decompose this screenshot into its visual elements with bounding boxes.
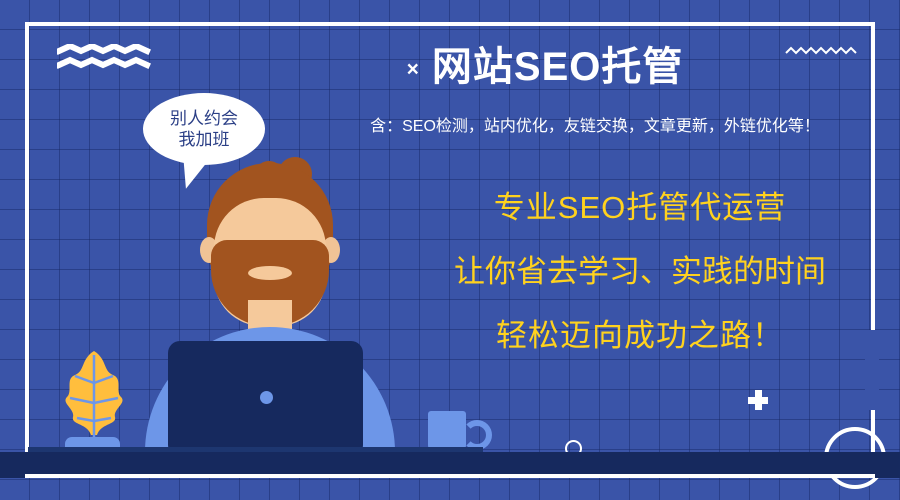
speech-bubble-line-1: 别人约会	[170, 108, 238, 129]
speech-bubble-text: 别人约会 我加班	[170, 108, 238, 151]
mug-handle	[462, 420, 492, 450]
laptop-logo-dot	[260, 391, 273, 404]
desk-edge-line	[25, 474, 875, 478]
plant-leaf-icon	[55, 349, 133, 449]
coffee-mug-icon	[428, 411, 466, 452]
mouth	[248, 266, 292, 280]
seo-promo-banner: ×网站SEO托管 含：SEO检测，站内优化，友链交换，文章更新，外链优化等！ 专…	[0, 0, 900, 500]
speech-bubble-line-2: 我加班	[170, 129, 238, 150]
speech-bubble: 别人约会 我加班	[143, 93, 265, 165]
